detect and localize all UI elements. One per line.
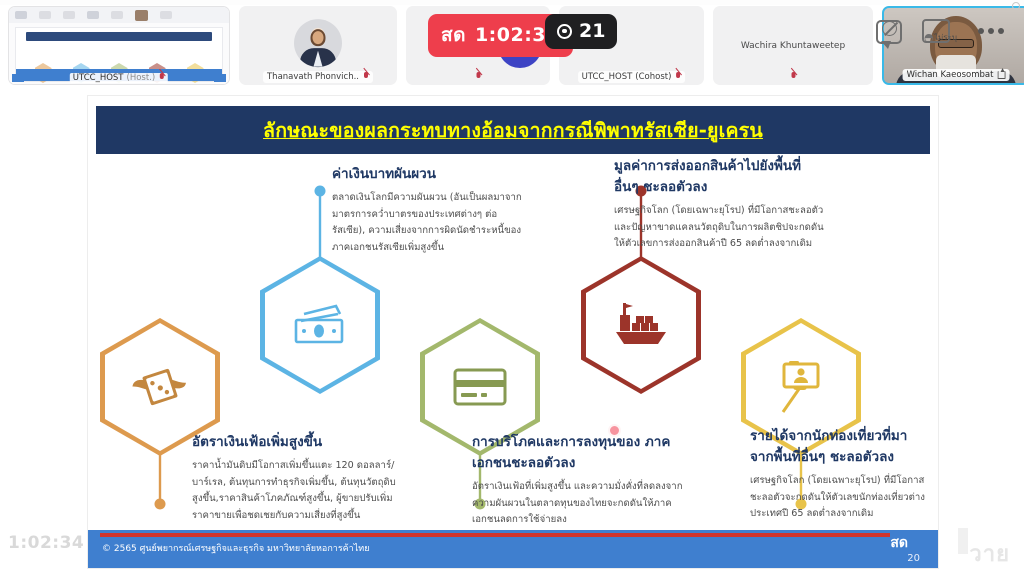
tile-wachira[interactable]: Wachira Khuntaweetep (713, 6, 873, 85)
tile-label-utcc-cohost: UTCC_HOST (Cohost) (578, 71, 686, 83)
cast-wave-icon: ◓ (924, 32, 934, 43)
node-body: ราคาน้ำมันดิบมีโอกาสเพิ่มขึ้นแตะ 120 ดอล… (192, 458, 404, 525)
text-block-consumption: การบริโภคและการลงทุนของ ภาคเอกชนชะลอตัวล… (472, 432, 686, 529)
text-block-baht: ค่าเงินบาทผันผวน ตลาดเงินโลกมีความผันผวน… (332, 164, 528, 257)
tile-name: Wichan Kaeosombat (907, 70, 994, 80)
tile-label-screen-share: UTCC_HOST (Host.) (70, 73, 168, 83)
cast-label: ไม่ระบุ (934, 31, 957, 44)
node-body: ตลาดเงินโลกมีความผันผวน (อันเป็นผลมาจากม… (332, 190, 528, 257)
infographic-canvas: ค่าเงินบาทผันผวน ตลาดเงินโลกมีความผันผวน… (88, 96, 938, 568)
tile-screen-share[interactable]: UTCC_HOST (Host.) (8, 6, 230, 85)
text-block-export: มูลค่าการส่งออกสินค้าไปยังพื้นที่ อื่นๆ … (614, 156, 830, 253)
slide-margin-right (936, 96, 1024, 568)
overlay-progress-bar (958, 528, 968, 554)
flying-money-icon (132, 362, 188, 412)
footer-copyright: © 2565 ศูนย์พยากรณ์เศรษฐกิจและธุรกิจ มหา… (102, 541, 369, 555)
selfie-stick-icon (773, 356, 829, 418)
credit-card-icon (452, 366, 508, 408)
node-heading: รายได้จากนักท่องเที่ยวที่มา จากพื้นที่อื… (750, 426, 930, 468)
eye-icon (557, 24, 572, 39)
node-body: เศรษฐกิจโลก (โดยเฉพาะยุโรป) ที่มีโอกาสชะ… (750, 473, 930, 523)
mouse-cursor-highlight (608, 424, 621, 437)
more-options-icon[interactable] (978, 28, 1004, 34)
text-block-tourism: รายได้จากนักท่องเที่ยวที่มา จากพื้นที่อื… (750, 426, 930, 523)
overlay-timestamp: 1:02:34 (8, 533, 84, 553)
node-heading: มูลค่าการส่งออกสินค้าไปยังพื้นที่ อื่นๆ … (614, 156, 830, 198)
mini-corner-left (12, 74, 24, 82)
live-label: สด (441, 20, 466, 50)
mini-corner-right (214, 74, 226, 82)
tile-thanavath[interactable]: Thanavath Phonvich.. (239, 6, 397, 85)
footer-page-number: 20 (907, 553, 920, 564)
node-body: อัตราเงินเฟ้อที่เพิ่มสูงขึ้น และความมั่ง… (472, 479, 686, 529)
screen-share-icon (997, 71, 1005, 79)
footer-live-label: สด (890, 532, 908, 554)
mic-muted-icon (475, 72, 482, 82)
node-body: เศรษฐกิจโลก (โดยเฉพาะยุโรป) ที่มีโอกาสชะ… (614, 203, 830, 253)
tile-role: (Cohost) (635, 72, 671, 82)
mini-tabbar (9, 7, 229, 23)
tile-name: Thanavath Phonvich.. (267, 72, 359, 82)
cargo-ship-icon (610, 299, 672, 351)
footer-divider (100, 533, 890, 537)
node-heading: ค่าเงินบาทผันผวน (332, 164, 528, 185)
tile-role: (Host.) (127, 73, 156, 83)
window-top-edge (0, 0, 1024, 5)
presentation-slide: ลักษณะของผลกระทบทางอ้อมจากกรณีพิพาทรัสเซ… (88, 96, 938, 568)
tile-name: Wachira Khuntaweetep (741, 41, 845, 51)
overlay-watermark: วาย (969, 536, 1010, 571)
slide-footer: © 2565 ศูนย์พยากรณ์เศรษฐกิจและธุรกิจ มหา… (88, 530, 938, 568)
viewer-count-badge: 21 (545, 14, 617, 49)
banknotes-icon (290, 302, 350, 348)
slide-margin-left (0, 96, 88, 568)
tile-label-thanavath: Thanavath Phonvich.. (263, 71, 373, 83)
tile-label-wichan: Wichan Kaeosombat (903, 69, 1010, 81)
mic-muted-icon (362, 72, 369, 82)
chat-disabled-icon[interactable] (882, 21, 897, 36)
tile-wichan-video[interactable]: Wichan Kaeosombat (882, 6, 1024, 85)
mic-muted-icon (158, 73, 165, 83)
viewer-count: 21 (579, 20, 605, 42)
text-block-inflation: อัตราเงินเฟ้อเพิ่มสูงขึ้น ราคาน้ำมันดิบม… (192, 432, 404, 525)
tile-name: UTCC_HOST (582, 72, 633, 82)
window-corner-icon (1012, 2, 1020, 10)
node-heading: การบริโภคและการลงทุนของ ภาคเอกชนชะลอตัวล… (472, 432, 686, 474)
avatar (294, 19, 342, 67)
tile-name: UTCC_HOST (73, 73, 124, 83)
node-heading: อัตราเงินเฟ้อเพิ่มสูงขึ้น (192, 432, 404, 453)
mic-muted-icon (674, 72, 681, 82)
mic-muted-icon (790, 72, 797, 82)
